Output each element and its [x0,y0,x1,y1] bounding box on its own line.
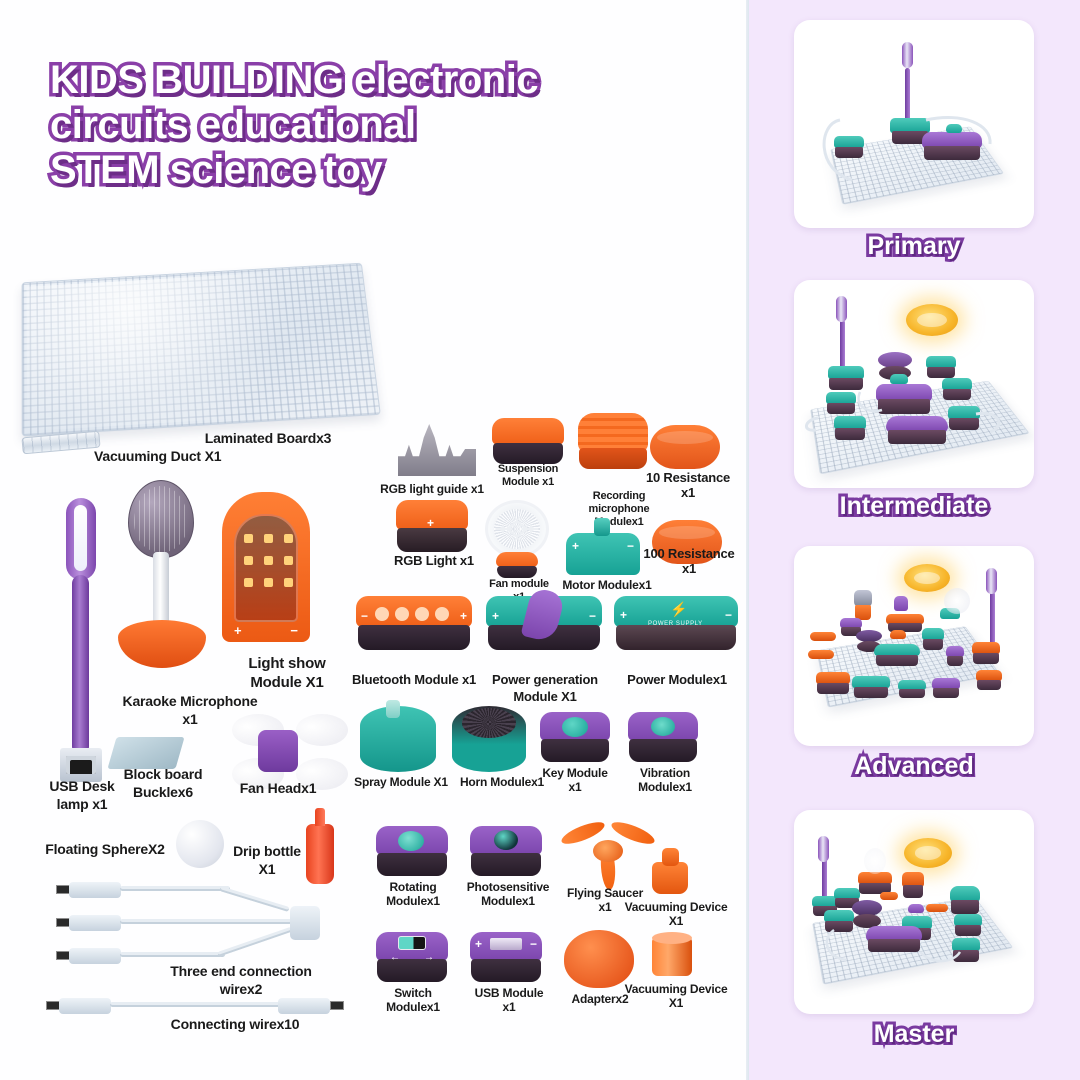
resistance-100-label-line1: 100 Resistance [634,546,744,561]
flying-saucer-label-line1: Flying Saucer [550,886,660,900]
key-module-label-line2: x1 [532,780,618,794]
three-end-connection-wire-label-line2: wirex2 [132,981,350,998]
suspension-module-image [492,418,564,464]
usb-module-label-line2: x1 [462,1000,556,1014]
rotating-module-label-line1: Rotating [368,880,458,894]
block-board-buckle-label-line1: Block board [98,766,228,783]
vacuuming-device-bottom-label-line2: X1 [614,996,738,1010]
minus-sign-icon: − [725,608,732,622]
power-module-label: Power Modulex1 [610,672,744,687]
fan-module-base [496,552,538,578]
motor-module-image: + − [566,533,640,575]
connecting-wire-label: Connecting wirex10 [120,1016,350,1033]
adapter-image [564,930,634,988]
vacuuming-device-bottom-rim [652,932,692,944]
plus-sign-icon: + [427,516,434,530]
arrow-left-icon: ← [390,952,400,963]
floating-sphere-label: Floating SphereX2 [30,841,180,858]
plus-sign-icon: + [572,539,579,553]
level-label-master: Master [794,1020,1034,1049]
plus-sign-icon: + [460,609,467,623]
karaoke-microphone-head-icon [128,480,194,558]
light-show-module-glass [234,514,298,622]
photosensitive-module-image [470,826,542,876]
recording-microphone-module-image [578,413,648,469]
plus-sign-icon: + [475,937,482,951]
primary-scene [794,20,1034,228]
title-line-1: KIDS BUILDING electronic [50,58,730,103]
drip-bottle-label-line1: Drip bottle [222,843,312,860]
title-line-3: STEM science toy [50,148,730,193]
plus-sign-icon: + [234,623,242,638]
key-button-icon [562,717,588,737]
usb-plug-icon [60,748,102,782]
vibration-button-icon [651,717,675,736]
vacuuming-duct-label: Vacuuming Duct X1 [94,448,304,465]
floating-sphere-image [176,820,224,868]
vibration-module-label-line2: Modulex1 [620,780,710,794]
light-show-module-label-line1: Light show [212,655,362,673]
plus-sign-icon: + [620,608,627,622]
primary-wires [794,20,1034,228]
vacuuming-device-top-image [652,862,688,894]
block-board-buckle-image [107,737,184,769]
arrow-right-icon: → [424,952,434,963]
laminated-board-image [22,263,381,437]
vacuuming-device-bottom-label-line1: Vacuuming Device [614,982,738,996]
fan-head-label: Fan Headx1 [218,780,338,797]
switch-module-label-line1: Switch [368,986,458,1000]
intermediate-scene [794,280,1034,488]
bluetooth-module-image: − + [356,596,472,650]
key-module-image [540,712,610,762]
vacuuming-device-top-label-line2: X1 [614,914,738,928]
recording-microphone-module-label-line2: microphone [570,503,668,516]
level-card-intermediate[interactable] [794,280,1034,488]
usb-port-icon [490,938,522,950]
resistance-10-label-line1: 10 Resistance [636,470,740,485]
suspension-module-label-line1: Suspension [482,463,574,476]
drip-bottle-label-line2: X1 [222,861,312,878]
karaoke-microphone-base-icon [118,620,206,668]
usb-module-image: + − [470,932,542,982]
advanced-scene [794,546,1034,746]
switch-module-label-line2: Modulex1 [368,1000,458,1014]
power-generation-module-label-line2: Module X1 [480,689,610,704]
rotating-module-image [376,826,448,876]
horn-diaphragm-icon [462,708,516,738]
intermediate-wires [794,280,1034,488]
minus-sign-icon: − [361,609,368,623]
light-show-module-image: + − [222,492,310,642]
power-generation-module-label-line1: Power generation [480,672,610,687]
vacuuming-device-top-label-line1: Vacuuming Device [614,900,738,914]
recording-microphone-module-label-line3: Modulex1 [570,516,668,529]
rgb-light-guide-image [398,424,476,476]
switch-module-image: ← → [376,932,448,982]
level-label-intermediate: Intermediate [794,492,1034,521]
spray-nozzle-icon [386,700,400,718]
title-line-2: circuits educational [50,103,730,148]
fan-module-label-line1: Fan module [480,578,558,591]
master-wires [794,810,1034,1014]
motor-module-label: Motor Modulex1 [552,578,662,592]
spray-module-label: Spray Module X1 [348,775,454,789]
vibration-module-label-line1: Vibration [620,766,710,780]
fan-blade-icon [296,714,348,746]
rgb-light-image: + [396,500,468,552]
three-end-connection-wire-label-line1: Three end connection [132,963,350,980]
minus-sign-icon: − [627,539,634,553]
switch-toggle-icon [398,936,426,950]
laminated-board-label: Laminated Boardx3 [168,430,368,447]
suspension-module-label-line2: Module x1 [482,476,574,489]
usb-desk-lamp-neck-icon [72,575,89,755]
left-parts-pane: KIDS BUILDING electronic circuits educat… [0,0,748,1080]
level-card-advanced[interactable] [794,546,1034,746]
photosensor-icon [494,830,518,850]
usb-module-label-line1: USB Module [462,986,556,1000]
light-show-module-label-line2: Module X1 [212,674,362,692]
vibration-module-image [628,712,698,762]
motor-shaft-icon [594,518,610,536]
power-supply-text: POWER SUPPLY [648,621,703,627]
level-card-primary[interactable] [794,20,1034,228]
resistance-100-label-line2: x1 [634,561,744,576]
fan-module-image [485,500,549,558]
master-scene [794,810,1034,1014]
power-module-image: + − ⚡ POWER SUPPLY [614,596,738,650]
photosensitive-module-label-line1: Photosensitive [456,880,560,894]
plus-sign-icon: + [492,609,499,623]
resistance-10-label-line2: x1 [636,485,740,500]
lightning-bolt-icon: ⚡ [670,601,687,618]
minus-sign-icon: − [530,937,537,951]
vacuuming-device-top-nozzle [662,848,679,866]
bluetooth-module-label: Bluetooth Module x1 [346,672,482,687]
rotating-module-label-line2: Modulex1 [368,894,458,908]
rgb-light-label: RGB Light x1 [382,553,486,568]
level-label-primary: Primary [794,232,1034,261]
rotating-knob-icon [398,831,424,851]
product-infographic: KIDS BUILDING electronic circuits educat… [0,0,1080,1080]
level-label-advanced: Advanced [794,752,1034,781]
page-title: KIDS BUILDING electronic circuits educat… [50,58,730,192]
resistance-10-image [650,425,720,469]
flying-saucer-image [560,818,656,882]
sparkle-sphere-icon [944,588,970,614]
key-module-label-line1: Key Module [532,766,618,780]
block-board-buckle-label-line2: Bucklex6 [98,784,228,801]
minus-sign-icon: − [589,609,596,623]
karaoke-microphone-label-line1: Karaoke Microphone [90,693,290,710]
fan-head-hub-icon [258,730,298,772]
rgb-light-guide-label: RGB light guide x1 [372,482,492,496]
level-card-master[interactable] [794,810,1034,1014]
photosensitive-module-label-line2: Modulex1 [456,894,560,908]
minus-sign-icon: − [290,623,298,638]
usb-desk-lamp-head-icon [66,498,96,580]
